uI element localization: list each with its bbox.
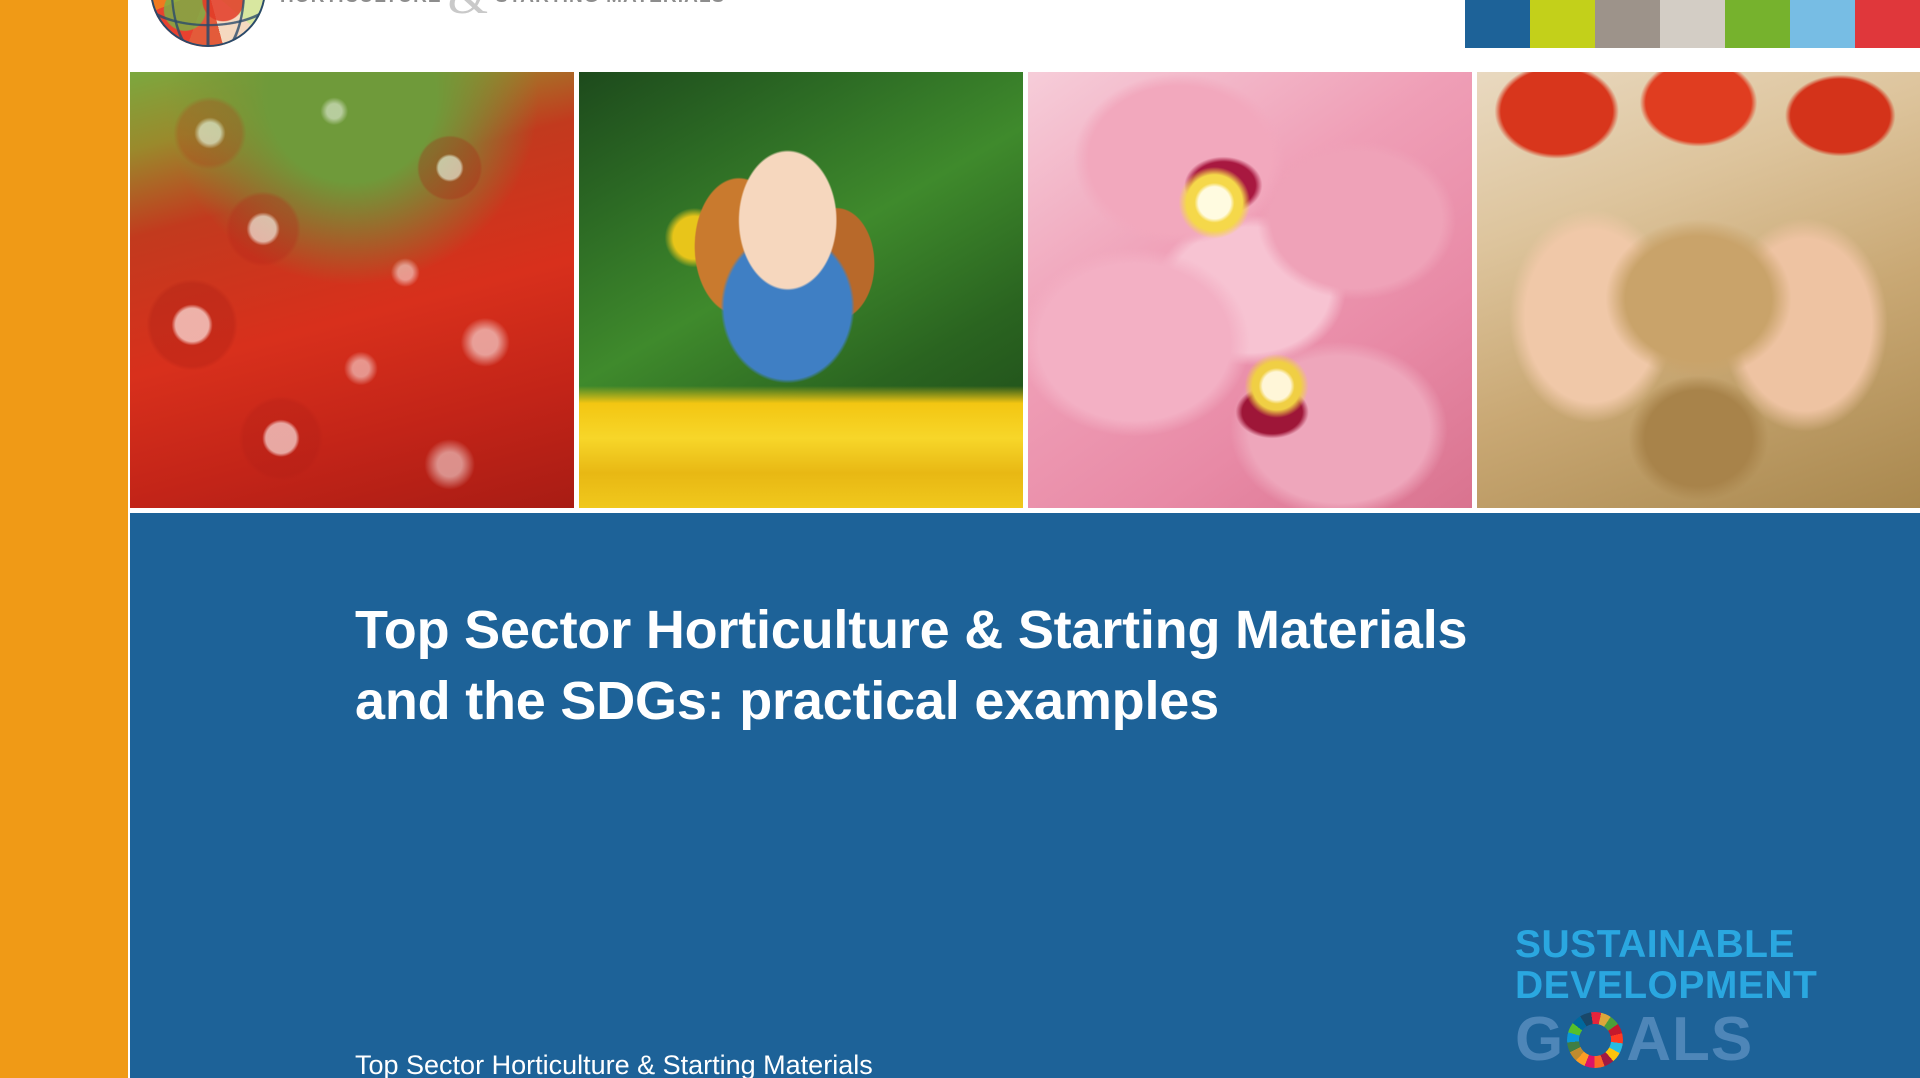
left-orange-accent-bar (0, 0, 128, 1078)
slide-title-line-2: and the SDGs: practical examples (355, 666, 1715, 737)
sdg-line-goals: G ALS (1515, 1009, 1815, 1071)
swatch-green (1725, 0, 1790, 48)
sdg-line-development: DEVELOPMENT (1515, 966, 1815, 1005)
topsector-logo-text: TOPSECTOR HORTICULTURE & STARTING MATERI… (280, 0, 725, 16)
swatch-red (1855, 0, 1920, 48)
sustainable-development-goals-logo: SUSTAINABLE DEVELOPMENT G ALS (1515, 925, 1815, 1071)
sdg-line-sustainable: SUSTAINABLE (1515, 925, 1815, 964)
photo-greenhouse-worker: woman-harvesting-peppers-in-greenhouse (579, 72, 1023, 508)
photo-pink-orchids: pink-orchid-flowers (1028, 72, 1473, 508)
topsector-globe-logo-icon (150, 0, 266, 47)
logo-line-2: HORTICULTURE & STARTING MATERIALS (280, 0, 725, 16)
swatch-light-grey (1660, 0, 1725, 48)
slide-title: Top Sector Horticulture & Starting Mater… (355, 595, 1715, 738)
header-photo-strip: red-tomatoes-with-water-droplets woman-h… (130, 72, 1920, 508)
sdg-colour-wheel-icon (1567, 1012, 1623, 1068)
topsector-logo: TOPSECTOR HORTICULTURE & STARTING MATERI… (150, 0, 690, 64)
swatch-light-blue (1790, 0, 1855, 48)
swatch-blue (1465, 0, 1530, 48)
swatch-taupe (1595, 0, 1660, 48)
sdg-goals-als: ALS (1626, 1009, 1753, 1071)
logo-starting-materials-label: STARTING MATERIALS (495, 0, 725, 8)
swatch-lime (1530, 0, 1595, 48)
slide-title-line-1: Top Sector Horticulture & Starting Mater… (355, 595, 1715, 666)
logo-ampersand: & (448, 0, 490, 16)
brand-colour-bar (1465, 0, 1920, 48)
sdg-goals-g: G (1515, 1009, 1564, 1071)
logo-horticulture-label: HORTICULTURE (280, 0, 442, 8)
photo-tomatoes-water-droplets: red-tomatoes-with-water-droplets (130, 72, 574, 508)
photo-hands-with-seeds: hands-holding-seeds-over-basket (1477, 72, 1920, 508)
presentation-slide: TOPSECTOR HORTICULTURE & STARTING MATERI… (0, 0, 1920, 1078)
slide-footer-text: Top Sector Horticulture & Starting Mater… (355, 1050, 873, 1078)
